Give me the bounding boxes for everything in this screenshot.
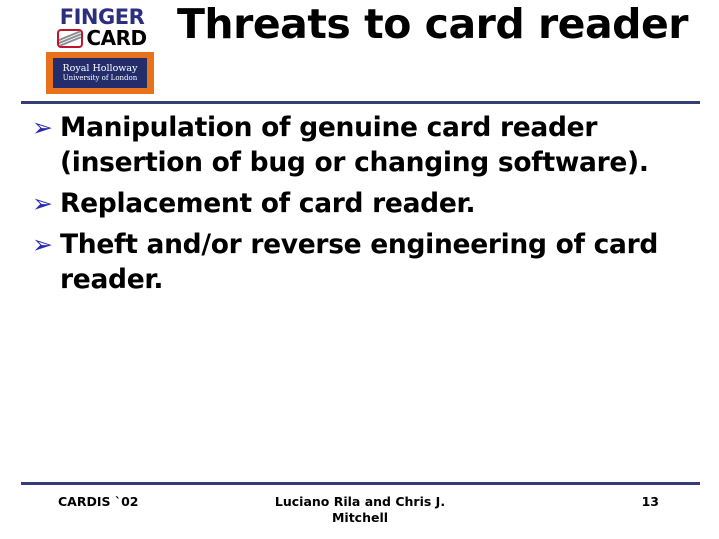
list-item: ➢ Replacement of card reader. xyxy=(27,186,697,221)
crest-inner-panel: Royal Holloway University of London xyxy=(53,58,147,88)
crest-line-1: Royal Holloway xyxy=(63,64,138,74)
fingercard-logo-row: CARD xyxy=(57,28,146,48)
list-item-text: Manipulation of genuine card reader (ins… xyxy=(60,110,697,180)
crest-line-2: University of London xyxy=(63,74,138,83)
footer-conference-label: CARDIS `02 xyxy=(58,494,139,509)
slide-page-number: 13 xyxy=(642,494,659,509)
footer-authors: Luciano Rila and Chris J. Mitchell xyxy=(200,494,520,526)
arrow-bullet-icon: ➢ xyxy=(27,186,60,221)
slide-footer: CARDIS `02 Luciano Rila and Chris J. Mit… xyxy=(0,490,719,535)
bullet-list: ➢ Manipulation of genuine card reader (i… xyxy=(27,110,697,303)
logo-block: FINGER CARD Royal Holloway Univer xyxy=(46,6,158,94)
arrow-bullet-icon: ➢ xyxy=(27,227,60,262)
footer-authors-line2: Mitchell xyxy=(200,510,520,526)
list-item-text: Replacement of card reader. xyxy=(60,186,697,221)
header-divider xyxy=(21,101,700,104)
fingercard-word-finger: FINGER xyxy=(60,6,145,28)
footer-divider xyxy=(21,482,700,485)
fingercard-logo: FINGER CARD xyxy=(46,6,158,48)
arrow-bullet-icon: ➢ xyxy=(27,110,60,145)
fingercard-word-card: CARD xyxy=(86,28,146,48)
smartcard-fingerprint-icon xyxy=(57,29,83,48)
list-item: ➢ Manipulation of genuine card reader (i… xyxy=(27,110,697,180)
list-item-text: Theft and/or reverse engineering of card… xyxy=(60,227,697,297)
slide-title: Threats to card reader xyxy=(160,0,705,48)
footer-authors-line1: Luciano Rila and Chris J. xyxy=(200,494,520,510)
slide-canvas: FINGER CARD Royal Holloway Univer xyxy=(0,0,719,539)
crest-zigzag-bottom xyxy=(46,87,154,94)
royal-holloway-crest: Royal Holloway University of London xyxy=(46,52,154,94)
list-item: ➢ Theft and/or reverse engineering of ca… xyxy=(27,227,697,297)
